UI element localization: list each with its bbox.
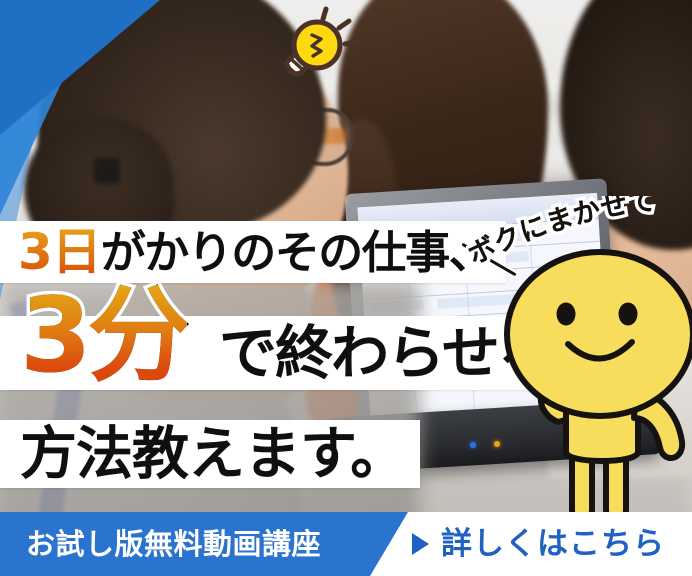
mascot-speech: ボクにまかせて ボクにまかせて bbox=[466, 196, 692, 276]
headline-1-highlight: 3日 bbox=[18, 227, 101, 277]
play-triangle-icon bbox=[412, 533, 429, 555]
headline-3-text: 方法教えます。 bbox=[20, 426, 406, 483]
promo-banner: 3日 がかりのその仕事、 3分 3分 で終わらせる 方法教えます。 ボクにまかせ… bbox=[0, 0, 692, 576]
lightbulb-icon bbox=[258, 6, 368, 82]
trial-course-tag[interactable]: お試し版無料動画講座 bbox=[0, 512, 408, 576]
headline-line-2: 3分 3分 で終わらせる bbox=[0, 316, 568, 390]
headline-2-highlight: 3分 bbox=[20, 285, 187, 388]
details-cta-button[interactable]: 詳しくはこちら bbox=[412, 512, 665, 576]
trial-course-label: お試し版無料動画講座 bbox=[26, 530, 321, 559]
photo-man-badge-clip bbox=[94, 158, 120, 184]
details-cta-label: 詳しくはこちら bbox=[441, 529, 665, 560]
yellow-mascot-character bbox=[488, 238, 692, 526]
headline-line-1: 3日 がかりのその仕事、 bbox=[0, 221, 506, 283]
bottom-cta-bar: お試し版無料動画講座 詳しくはこちら bbox=[0, 512, 692, 576]
headline-1-rest: がかりのその仕事、 bbox=[101, 230, 493, 275]
headline-line-3: 方法教えます。 bbox=[0, 420, 420, 488]
photo-laptop-led bbox=[470, 442, 476, 448]
svg-text:ボクにまかせて: ボクにまかせて bbox=[466, 196, 658, 271]
